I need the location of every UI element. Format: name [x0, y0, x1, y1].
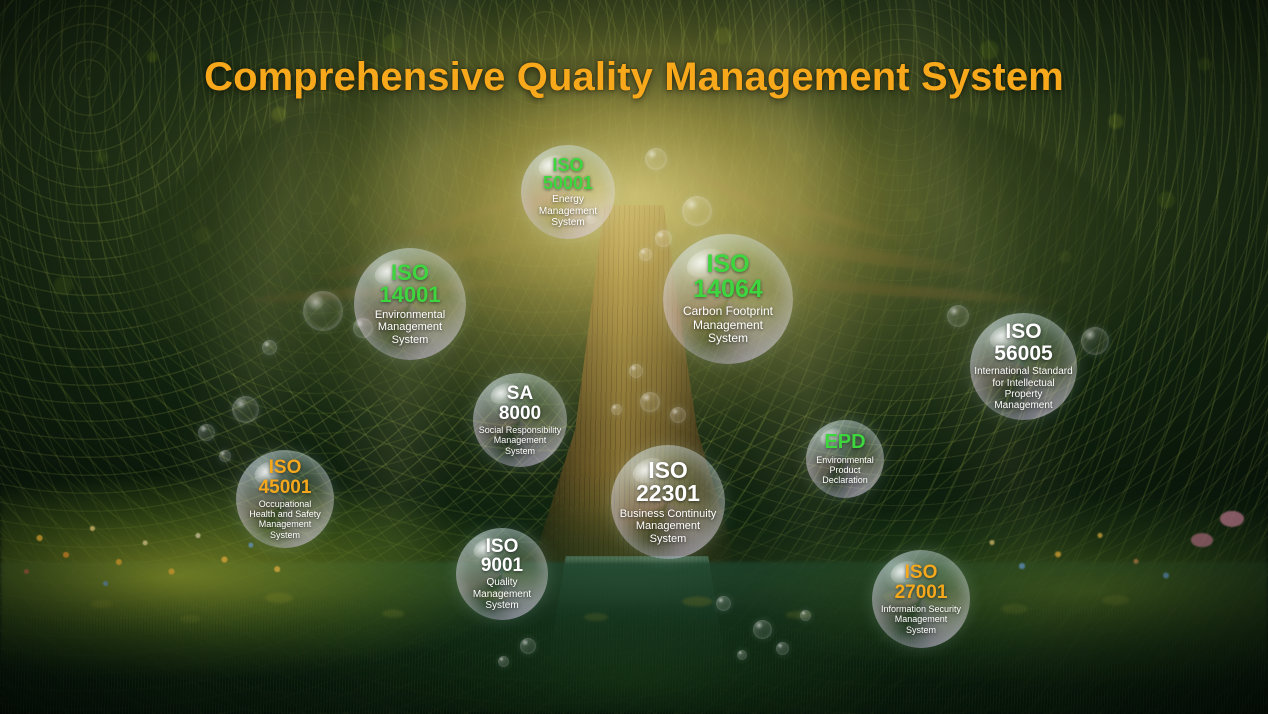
standard-description-line: Management [620, 520, 717, 533]
standard-description-line: for Intellectual [974, 378, 1072, 389]
standard-description: QualityManagementSystem [469, 577, 535, 611]
standard-description: Carbon FootprintManagementSystem [679, 305, 777, 346]
standard-description: Business ContinuityManagementSystem [616, 508, 721, 546]
page-title: Comprehensive Quality Management System [0, 55, 1268, 100]
standard-description-line: Declaration [816, 475, 874, 485]
standard-bubble-iso-14001[interactable]: ISO14001EnvironmentalManagementSystem [354, 248, 466, 360]
standard-description-line: System [249, 530, 321, 540]
decorative-bubble [219, 450, 231, 462]
standard-code-line: ISO [994, 321, 1052, 342]
standard-code-line: 22301 [636, 482, 700, 505]
standard-description-line: Environmental [375, 309, 445, 322]
standard-bubble-iso-45001[interactable]: ISO45001OccupationalHealth and SafetyMan… [236, 450, 334, 548]
standard-description-line: Occupational [249, 499, 321, 509]
standard-description-line: Management [375, 321, 445, 334]
standard-description-line: Management [974, 400, 1072, 411]
standard-description-line: Management [473, 589, 531, 600]
standard-code-line: ISO [543, 156, 593, 174]
standard-code-line: 9001 [481, 556, 523, 575]
standard-code: ISO22301 [636, 459, 700, 506]
standard-description-line: Carbon Footprint [683, 305, 773, 319]
standard-bubble-iso-50001[interactable]: ISO50001EnergyManagementSystem [521, 145, 615, 239]
standard-description-line: Management [479, 435, 562, 445]
grass-foreground [0, 594, 1268, 714]
standard-code-line: EPD [824, 432, 865, 452]
presentation-slide: Comprehensive Quality Management System … [0, 0, 1268, 714]
standard-code-line: ISO [895, 563, 948, 582]
standard-code-line: SA [499, 384, 541, 403]
standard-code: EPD [824, 432, 865, 452]
standard-bubble-iso-22301[interactable]: ISO22301Business ContinuityManagementSys… [611, 445, 725, 559]
standard-bubble-iso-56005[interactable]: ISO56005International Standardfor Intell… [970, 313, 1077, 420]
standard-code-line: ISO [693, 252, 763, 278]
standard-code: SA8000 [499, 384, 541, 423]
standard-code: ISO9001 [481, 537, 523, 576]
standard-description-line: System [375, 334, 445, 347]
standard-description-line: Management [881, 614, 961, 624]
standard-code: ISO14001 [379, 262, 440, 307]
standard-description: EnergyManagementSystem [535, 194, 601, 228]
standard-code-line: 45001 [259, 478, 312, 497]
standard-bubble-epd[interactable]: EPDEnvironmentalProductDeclaration [806, 420, 884, 498]
standard-description-line: System [479, 446, 562, 456]
standard-description: Information SecurityManagementSystem [877, 604, 965, 635]
standard-description-line: Management [539, 206, 597, 217]
standard-description-line: Business Continuity [620, 508, 717, 521]
standard-description-line: Property [974, 389, 1072, 400]
standard-code-line: ISO [259, 458, 312, 477]
standard-code-line: ISO [481, 537, 523, 556]
standard-description-line: Management [249, 519, 321, 529]
standard-description-line: Product [816, 465, 874, 475]
standard-code-line: 14064 [693, 277, 763, 303]
standard-description-line: Quality [473, 577, 531, 588]
standard-description-line: System [683, 332, 773, 346]
standard-code: ISO14064 [693, 252, 763, 303]
standard-code: ISO45001 [259, 458, 312, 497]
standard-code: ISO50001 [543, 156, 593, 193]
standard-bubble-iso-14064[interactable]: ISO14064Carbon FootprintManagementSystem [663, 234, 793, 364]
standard-code-line: 56005 [994, 343, 1052, 364]
standard-description-line: System [539, 217, 597, 228]
standard-description-line: System [881, 625, 961, 635]
standard-description-line: System [620, 533, 717, 546]
standard-description: OccupationalHealth and SafetyManagementS… [245, 499, 325, 540]
standard-bubble-sa-8000[interactable]: SA8000Social ResponsibilityManagementSys… [473, 373, 567, 467]
standard-bubble-iso-9001[interactable]: ISO9001QualityManagementSystem [456, 528, 548, 620]
standard-description: EnvironmentalProductDeclaration [812, 455, 878, 486]
standard-description-line: Environmental [816, 455, 874, 465]
standard-description-line: Health and Safety [249, 509, 321, 519]
standard-code-line: ISO [636, 459, 700, 482]
decorative-bubble [198, 424, 215, 441]
standard-description: International Standardfor IntellectualPr… [970, 366, 1076, 412]
standard-code-line: 50001 [543, 174, 593, 192]
standard-code: ISO27001 [895, 563, 948, 602]
standard-description-line: Information Security [881, 604, 961, 614]
standard-bubble-iso-27001[interactable]: ISO27001Information SecurityManagementSy… [872, 550, 970, 648]
standard-description-line: Energy [539, 194, 597, 205]
standard-code: ISO56005 [994, 321, 1052, 364]
standard-code-line: 14001 [379, 284, 440, 306]
standard-description: EnvironmentalManagementSystem [371, 309, 449, 347]
standard-code-line: 8000 [499, 404, 541, 423]
standard-code-line: ISO [379, 262, 440, 284]
standard-description-line: International Standard [974, 366, 1072, 377]
standard-description-line: System [473, 600, 531, 611]
standard-description: Social ResponsibilityManagementSystem [475, 425, 566, 456]
decorative-bubble [232, 396, 259, 423]
standard-description-line: Social Responsibility [479, 425, 562, 435]
standard-code-line: 27001 [895, 583, 948, 602]
